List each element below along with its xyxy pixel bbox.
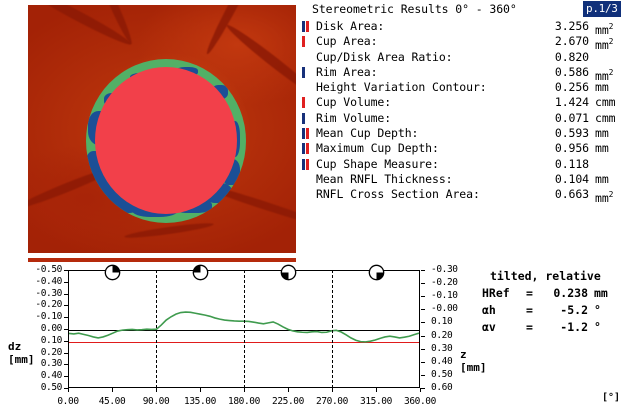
parameter-color-marker-icon xyxy=(302,82,310,93)
y-tick-label-right: -0.10 xyxy=(431,290,458,301)
parameter-row: Mean Cup Depth:0.593mm xyxy=(312,126,638,141)
y-tick-label-left: 0.00 xyxy=(41,323,62,334)
x-axis-unit-label: [°] xyxy=(602,392,620,403)
tilt-parameter-value: 0.238 xyxy=(544,285,588,302)
y-tick-label-left: 0.20 xyxy=(41,347,62,358)
y-tick-mark-right xyxy=(421,322,425,323)
parameter-row: Disk Area:3.256mm2 xyxy=(312,19,638,34)
tilt-parameter-name: HRef xyxy=(482,285,510,302)
x-tick-mark xyxy=(112,388,113,392)
parameter-color-marker-icon xyxy=(302,67,310,78)
tilt-parameter-unit: mm xyxy=(594,285,608,302)
parameter-color-marker-icon xyxy=(302,143,310,154)
parameter-label: Disk Area: xyxy=(316,19,384,34)
parameter-row: Cup Shape Measure:0.118 xyxy=(312,157,638,172)
y-tick-label-right: 0.30 xyxy=(431,343,452,354)
parameter-label: Cup Volume: xyxy=(316,95,391,110)
parameter-label: Rim Area: xyxy=(316,65,377,80)
parameter-value: 1.424 xyxy=(545,95,589,110)
x-tick-label: 180.00 xyxy=(224,396,264,407)
y-tick-label-right: 0.50 xyxy=(431,369,452,380)
parameter-list: Disk Area:3.256mm2Cup Area:2.670mm2Cup/D… xyxy=(312,19,638,203)
y-tick-mark-left xyxy=(64,329,68,330)
parameter-label: Rim Volume: xyxy=(316,111,391,126)
optic-cup-overlay xyxy=(95,67,237,214)
x-tick-mark xyxy=(288,388,289,392)
x-tick-label: 225.00 xyxy=(268,396,308,407)
x-tick-label: 0.00 xyxy=(48,396,88,407)
parameter-label: Mean RNFL Thickness: xyxy=(316,172,452,187)
x-tick-mark xyxy=(420,388,421,392)
y-tick-mark-right xyxy=(421,375,425,376)
tilt-parameter-name: αv xyxy=(482,319,496,336)
x-tick-label: 45.00 xyxy=(92,396,132,407)
y-tick-mark-right xyxy=(421,283,425,284)
x-tick-label: 315.00 xyxy=(356,396,396,407)
quadrant-icon-90-180 xyxy=(192,264,209,281)
parameter-row: Cup Area:2.670mm2 xyxy=(312,34,638,49)
parameter-unit: mm xyxy=(595,80,609,95)
x-tick-label: 270.00 xyxy=(312,396,352,407)
y-tick-label-right: -0.30 xyxy=(431,264,458,275)
contour-height-chart: -0.50-0.40-0.30-0.20-0.100.000.100.200.3… xyxy=(0,258,640,413)
tilt-parameter-unit: ° xyxy=(594,319,601,336)
parameter-label: Mean Cup Depth: xyxy=(316,126,418,141)
parameter-value: 3.256 xyxy=(545,19,589,34)
y-tick-label-left: -0.40 xyxy=(35,276,62,287)
y-tick-mark-left xyxy=(64,270,68,271)
parameter-unit: mm xyxy=(595,172,609,187)
parameter-value: 0.104 xyxy=(545,172,589,187)
y-tick-label-left: 0.10 xyxy=(41,335,62,346)
parameter-value: 0.256 xyxy=(545,80,589,95)
results-header: Stereometric Results 0° - 360° p.1/3 xyxy=(312,2,638,18)
y-tick-label-right: 0.10 xyxy=(431,316,452,327)
quadrant-icon-270-360 xyxy=(368,264,385,281)
tilt-parameter-value: -1.2 xyxy=(544,319,588,336)
parameter-color-marker-icon xyxy=(302,97,310,108)
y-tick-label-right: -0.20 xyxy=(431,277,458,288)
tilt-parameter-unit: ° xyxy=(594,302,601,319)
parameter-color-marker-icon xyxy=(302,159,310,170)
parameter-color-marker-icon xyxy=(302,21,310,32)
y-tick-label-left: -0.30 xyxy=(35,288,62,299)
parameter-unit: mm xyxy=(595,126,609,141)
parameter-label: Cup Area: xyxy=(316,34,377,49)
y-tick-label-left: -0.10 xyxy=(35,311,62,322)
parameter-value: 0.956 xyxy=(545,141,589,156)
quadrant-divider xyxy=(332,270,333,388)
parameter-label: Maximum Cup Depth: xyxy=(316,141,439,156)
parameter-color-marker-icon xyxy=(302,174,310,185)
parameter-row: Cup Volume:1.424cmm xyxy=(312,95,638,110)
parameter-unit: mm2 xyxy=(595,187,613,206)
y-tick-label-right: -0.00 xyxy=(431,303,458,314)
y-tick-mark-left xyxy=(64,317,68,318)
parameter-color-marker-icon xyxy=(302,128,310,139)
tilt-parameter-value: -5.2 xyxy=(544,302,588,319)
y-tick-mark-right xyxy=(421,336,425,337)
x-tick-mark xyxy=(156,388,157,392)
tilt-equals-sign: = xyxy=(526,285,533,302)
parameter-row: Maximum Cup Depth:0.956mm xyxy=(312,141,638,156)
y-tick-label-left: 0.40 xyxy=(41,370,62,381)
quadrant-divider xyxy=(156,270,157,388)
parameter-value: 2.670 xyxy=(545,34,589,49)
parameter-label: Cup Shape Measure: xyxy=(316,157,439,172)
y-tick-mark-right xyxy=(421,349,425,350)
parameter-color-marker-icon xyxy=(302,36,310,47)
tilt-heading-text: tilted, relative xyxy=(490,268,601,285)
y-tick-label-right: 0.40 xyxy=(431,356,452,367)
y-tick-mark-left xyxy=(64,364,68,365)
stereometric-results-panel: Stereometric Results 0° - 360° p.1/3 Dis… xyxy=(312,2,638,214)
parameter-value: 0.820 xyxy=(545,50,589,65)
page-title: Stereometric Results 0° - 360° xyxy=(312,2,517,17)
parameter-row: Mean RNFL Thickness:0.104mm xyxy=(312,172,638,187)
parameter-value: 0.586 xyxy=(545,65,589,80)
parameter-row: Cup/Disk Area Ratio:0.820 xyxy=(312,50,638,65)
parameter-row: Height Variation Contour:0.256mm xyxy=(312,80,638,95)
page-indicator-badge[interactable]: p.1/3 xyxy=(583,1,621,17)
y-tick-mark-right xyxy=(421,362,425,363)
y-tick-mark-right xyxy=(421,270,425,271)
parameter-label: RNFL Cross Section Area: xyxy=(316,187,480,202)
parameter-unit: cmm xyxy=(595,95,615,110)
y-tick-label-right: 0.60 xyxy=(431,382,452,393)
y-axis-right-label: z[mm] xyxy=(460,348,487,374)
tilt-parameter-name: αh xyxy=(482,302,496,319)
y-tick-mark-left xyxy=(64,376,68,377)
separator-bar xyxy=(28,258,296,262)
x-tick-mark xyxy=(244,388,245,392)
y-tick-mark-left xyxy=(64,305,68,306)
x-tick-mark xyxy=(376,388,377,392)
y-tick-mark-right xyxy=(421,309,425,310)
parameter-color-marker-icon xyxy=(302,113,310,124)
y-tick-mark-left xyxy=(64,341,68,342)
x-tick-mark xyxy=(200,388,201,392)
tilt-equals-sign: = xyxy=(526,302,533,319)
parameter-label: Cup/Disk Area Ratio: xyxy=(316,50,452,65)
y-axis-left-label: dz[mm] xyxy=(8,340,35,366)
y-tick-label-left: 0.30 xyxy=(41,358,62,369)
y-tick-mark-left xyxy=(64,282,68,283)
parameter-color-marker-icon xyxy=(302,189,310,200)
parameter-color-marker-icon xyxy=(302,52,310,63)
parameter-label: Height Variation Contour: xyxy=(316,80,487,95)
fundus-image-panel[interactable] xyxy=(28,5,296,253)
y-tick-mark-left xyxy=(64,353,68,354)
quadrant-divider xyxy=(244,270,245,388)
y-tick-label-left: -0.50 xyxy=(35,264,62,275)
quadrant-icon-180-270 xyxy=(280,264,297,281)
x-tick-label: 90.00 xyxy=(136,396,176,407)
parameter-value: 0.071 xyxy=(545,111,589,126)
y-tick-mark-right xyxy=(421,296,425,297)
x-tick-label: 360.00 xyxy=(400,396,440,407)
parameter-unit: mm xyxy=(595,141,609,156)
parameter-row: Rim Volume:0.071cmm xyxy=(312,111,638,126)
y-tick-mark-right xyxy=(421,388,425,389)
tilt-equals-sign: = xyxy=(526,319,533,336)
y-tick-label-right: 0.20 xyxy=(431,330,452,341)
y-tick-label-left: 0.50 xyxy=(41,382,62,393)
parameter-value: 0.593 xyxy=(545,126,589,141)
y-tick-mark-left xyxy=(64,294,68,295)
x-tick-label: 135.00 xyxy=(180,396,220,407)
y-tick-label-left: -0.20 xyxy=(35,299,62,310)
x-tick-mark xyxy=(68,388,69,392)
parameter-value: 0.118 xyxy=(545,157,589,172)
parameter-value: 0.663 xyxy=(545,187,589,202)
x-tick-mark xyxy=(332,388,333,392)
parameter-row: RNFL Cross Section Area:0.663mm2 xyxy=(312,187,638,202)
quadrant-icon-0-90 xyxy=(104,264,121,281)
parameter-row: Rim Area:0.586mm2 xyxy=(312,65,638,80)
hrt-stereometric-report: Stereometric Results 0° - 360° p.1/3 Dis… xyxy=(0,0,640,413)
parameter-unit: cmm xyxy=(595,111,615,126)
